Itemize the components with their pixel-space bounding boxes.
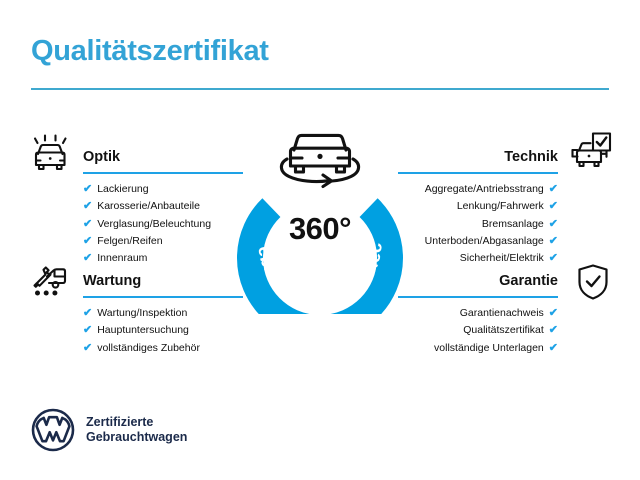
check-icon: ✔ [83,343,92,354]
list-item: Bremsanlage✔ [398,216,558,233]
check-icon: ✔ [549,219,558,230]
list-item-label: Wartung/Inspektion [97,305,187,322]
section-header-optik: Optik [83,148,243,174]
badge-center-label: 360° [232,212,408,246]
check-icon: ✔ [83,325,92,336]
list-item: ✔Wartung/Inspektion [83,305,243,322]
list-item-label: Felgen/Reifen [97,233,162,250]
list-item-label: Qualitätszertifikat [463,322,544,339]
check-icon: ✔ [83,219,92,230]
check-icon: ✔ [83,253,92,264]
list-item-label: Lenkung/Fahrwerk [457,198,544,215]
list-item: Aggregate/Antriebsstrang✔ [398,181,558,198]
list-item: ✔Lackierung [83,181,243,198]
gebrauchtwagen-check-badge: Gebrauchtwagen-Check 360° [232,118,408,314]
section-divider-garantie [398,296,558,298]
title-divider [31,88,609,90]
list-item-label: Innenraum [97,250,147,267]
list-item: ✔Felgen/Reifen [83,233,243,250]
list-item-label: vollständige Unterlagen [434,340,544,357]
section-header-garantie: Garantie [398,272,558,298]
list-item-label: Aggregate/Antriebsstrang [425,181,544,198]
check-icon: ✔ [549,201,558,212]
list-item: ✔Innenraum [83,250,243,267]
section-optik: Optik ✔Lackierung ✔Karosserie/Anbauteile… [83,148,243,267]
car-service-tool-icon [28,257,74,303]
section-technik: Technik Aggregate/Antriebsstrang✔ Lenkun… [398,148,558,267]
footer-line-1: Zertifizierte [86,415,187,431]
list-item-label: Unterboden/Abgasanlage [425,233,544,250]
list-item: Garantienachweis✔ [398,305,558,322]
section-title-optik: Optik [83,148,243,166]
list-item-label: Sicherheit/Elektrik [460,250,544,267]
footer-text: Zertifizierte Gebrauchtwagen [86,415,187,446]
list-item-label: vollständiges Zubehör [97,340,200,357]
list-item: Unterboden/Abgasanlage✔ [398,233,558,250]
car-rotation-icon [281,135,358,186]
shield-check-icon [570,259,616,305]
list-item-label: Karosserie/Anbauteile [97,198,200,215]
list-item-label: Garantienachweis [460,305,544,322]
car-shine-icon [28,131,74,177]
section-header-wartung: Wartung [83,272,243,298]
list-item: ✔Hauptuntersuchung [83,322,243,339]
section-garantie: Garantie Garantienachweis✔ Qualitätszert… [398,272,558,357]
checklist-technik: Aggregate/Antriebsstrang✔ Lenkung/Fahrwe… [398,181,558,267]
check-icon: ✔ [549,236,558,247]
section-header-technik: Technik [398,148,558,174]
section-divider-technik [398,172,558,174]
list-item: ✔Karosserie/Anbauteile [83,198,243,215]
section-wartung: Wartung ✔Wartung/Inspektion ✔Hauptunters… [83,272,243,357]
check-icon: ✔ [83,308,92,319]
list-item: Lenkung/Fahrwerk✔ [398,198,558,215]
list-item-label: Lackierung [97,181,148,198]
car-checkbox-icon [568,129,614,175]
section-title-wartung: Wartung [83,272,243,290]
list-item-label: Hauptuntersuchung [97,322,189,339]
list-item: Qualitätszertifikat✔ [398,322,558,339]
page-title: Qualitätszertifikat [31,34,269,68]
vw-logo-icon [31,408,75,452]
check-icon: ✔ [549,325,558,336]
list-item: Sicherheit/Elektrik✔ [398,250,558,267]
section-divider-wartung [83,296,243,298]
list-item: vollständige Unterlagen✔ [398,340,558,357]
footer-branding: Zertifizierte Gebrauchtwagen [31,408,187,452]
check-icon: ✔ [549,253,558,264]
checklist-optik: ✔Lackierung ✔Karosserie/Anbauteile ✔Verg… [83,181,243,267]
section-divider-optik [83,172,243,174]
list-item: ✔Verglasung/Beleuchtung [83,216,243,233]
footer-line-2: Gebrauchtwagen [86,430,187,446]
section-title-technik: Technik [398,148,558,166]
checklist-wartung: ✔Wartung/Inspektion ✔Hauptuntersuchung ✔… [83,305,243,357]
check-icon: ✔ [549,343,558,354]
check-icon: ✔ [83,236,92,247]
list-item: ✔vollständiges Zubehör [83,340,243,357]
check-icon: ✔ [83,184,92,195]
check-icon: ✔ [549,308,558,319]
list-item-label: Verglasung/Beleuchtung [97,216,211,233]
checklist-garantie: Garantienachweis✔ Qualitätszertifikat✔ v… [398,305,558,357]
check-icon: ✔ [549,184,558,195]
list-item-label: Bremsanlage [482,216,544,233]
section-title-garantie: Garantie [398,272,558,290]
check-icon: ✔ [83,201,92,212]
